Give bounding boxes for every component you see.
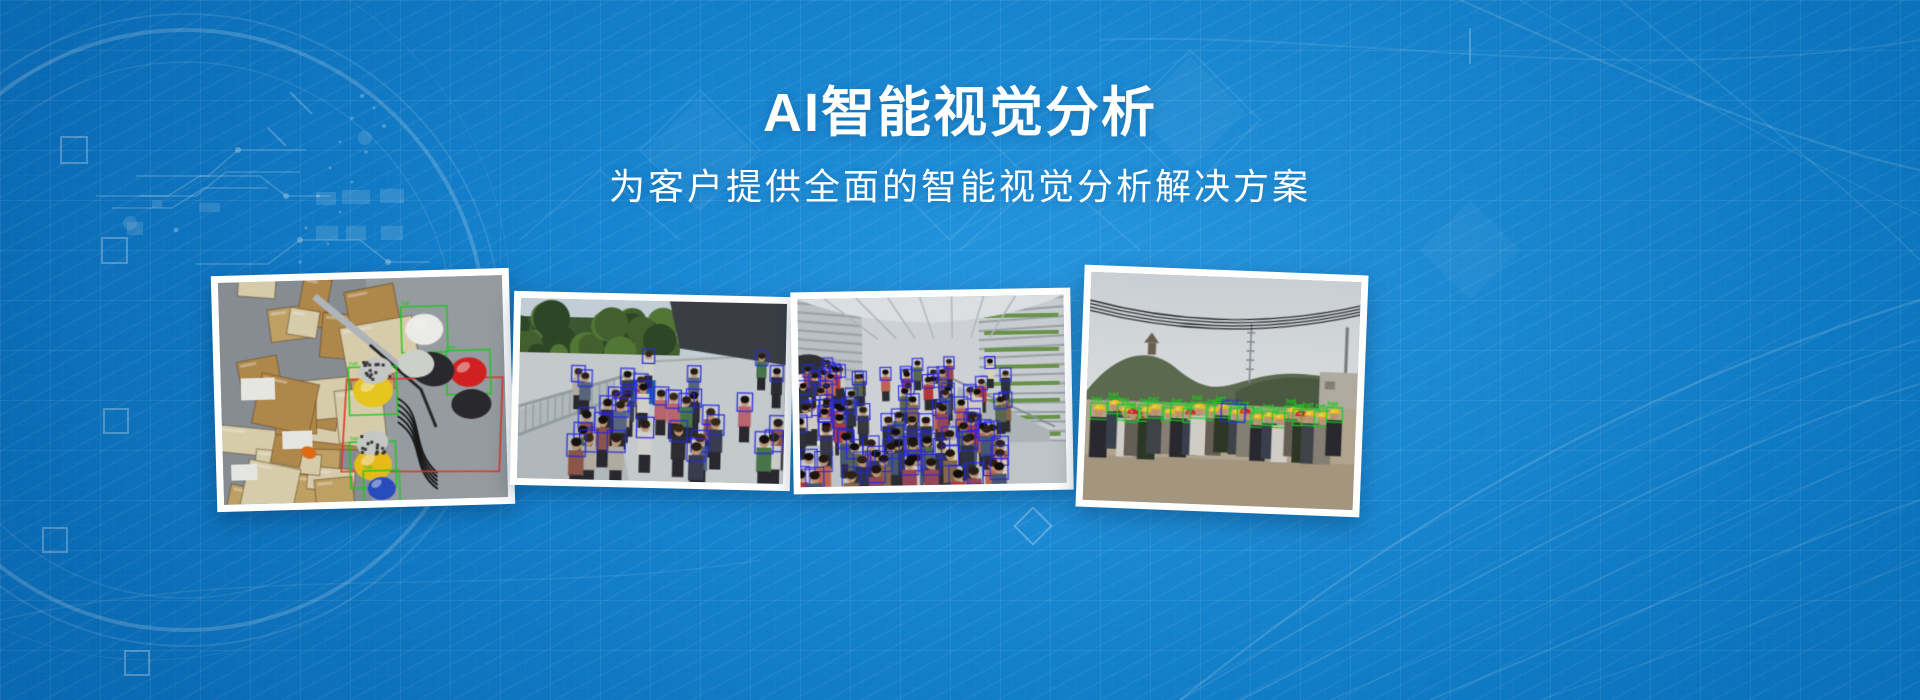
decor-square-filled xyxy=(381,226,403,240)
hero-banner: AI智能视觉分析 为客户提供全面的智能视觉分析解决方案 xyxy=(0,0,1920,700)
gallery-item-walkway-crowd-density[interactable] xyxy=(790,288,1073,495)
decor-square-outline xyxy=(42,527,68,553)
photo-warehouse xyxy=(218,275,508,505)
page-subtitle: 为客户提供全面的智能视觉分析解决方案 xyxy=(0,165,1920,208)
decor-square-outline xyxy=(101,237,128,264)
photo-footbridge xyxy=(517,298,787,484)
page-title: AI智能视觉分析 xyxy=(0,84,1920,143)
gallery-item-outdoor-hat-detection[interactable] xyxy=(1075,265,1368,518)
decor-square-filled xyxy=(346,226,366,240)
photo-walkway xyxy=(797,295,1066,488)
headline-block: AI智能视觉分析 为客户提供全面的智能视觉分析解决方案 xyxy=(0,84,1920,209)
gallery-item-warehouse-helmet-detection[interactable] xyxy=(211,268,515,512)
decor-square-outline xyxy=(124,650,150,676)
gallery-strip xyxy=(0,262,1920,522)
decor-square-filled xyxy=(316,226,338,240)
gallery-item-footbridge-crowd-detection[interactable] xyxy=(510,291,794,491)
photo-outdoor-group xyxy=(1083,272,1362,510)
decor-square-filled xyxy=(123,216,137,230)
